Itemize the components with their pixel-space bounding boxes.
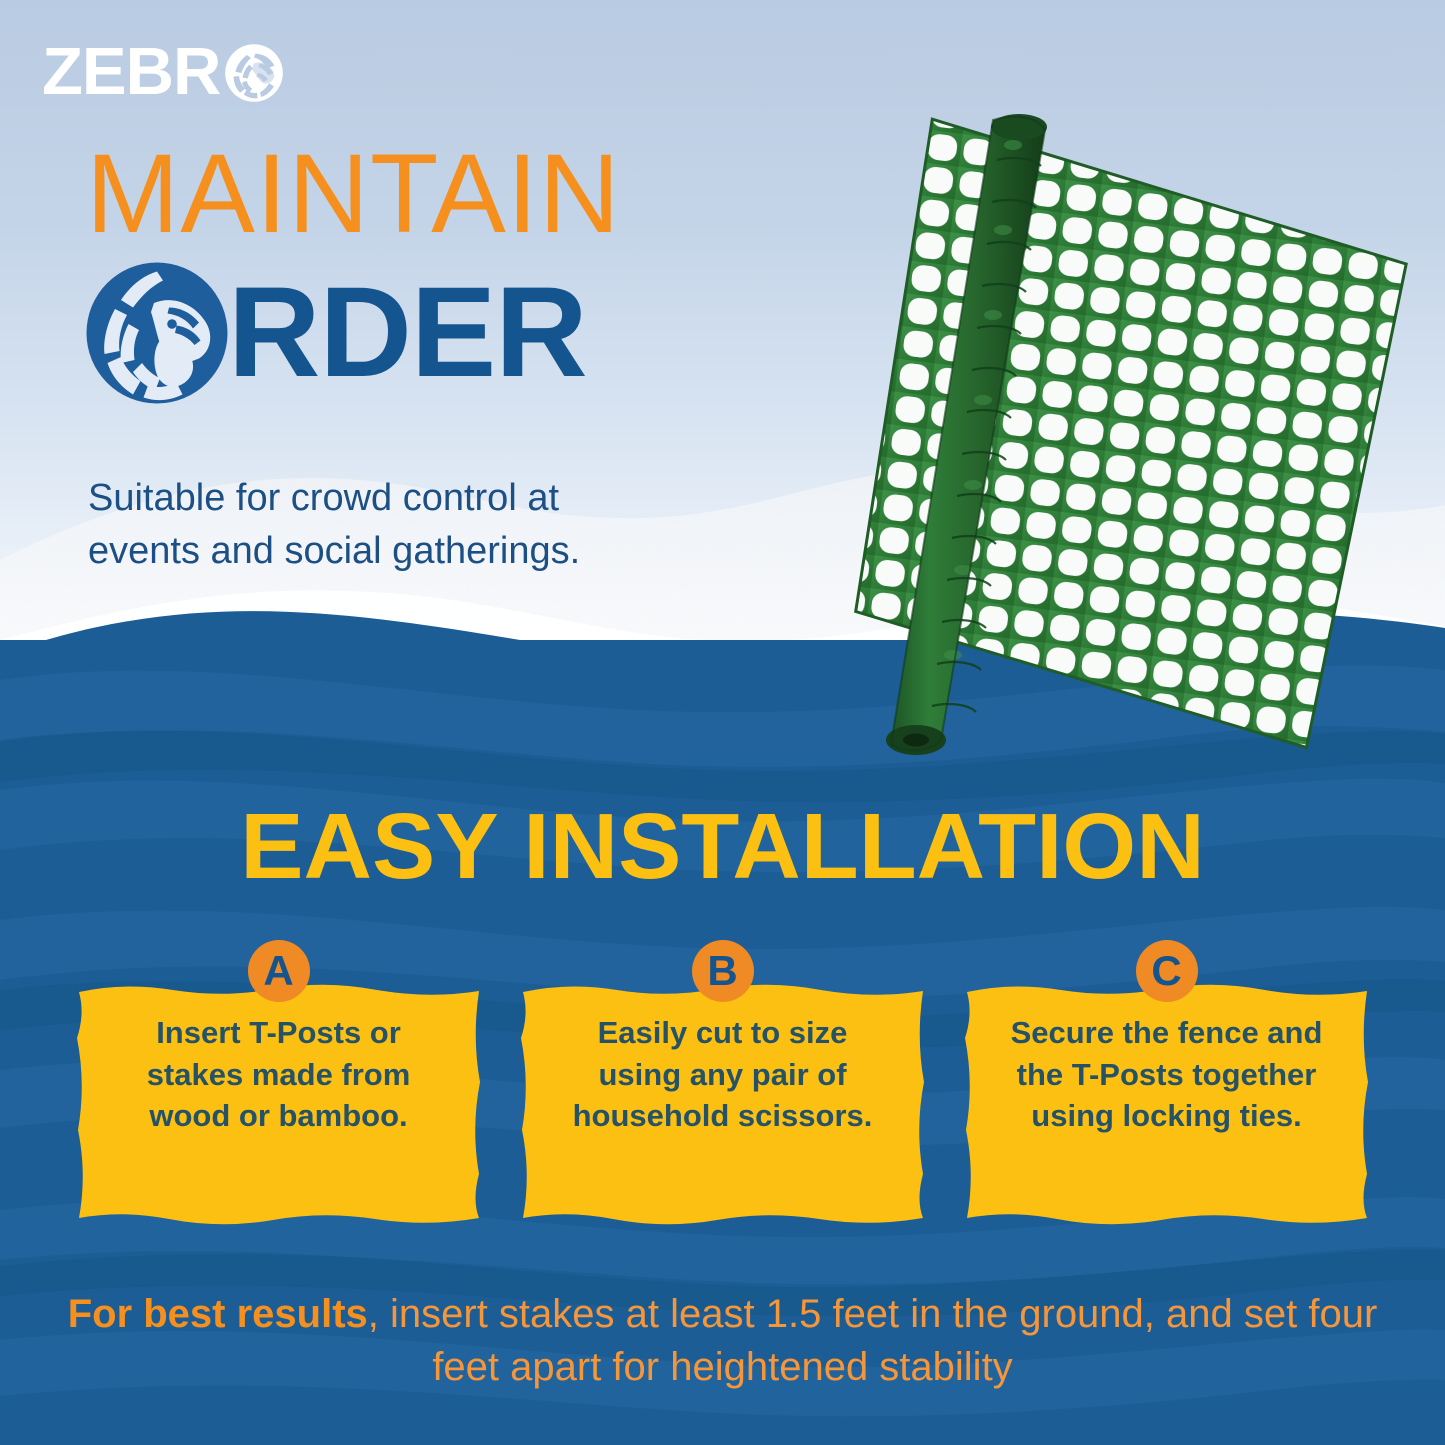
zebra-head-icon bbox=[224, 42, 284, 104]
hero-subtitle-line-1: Suitable for crowd control at bbox=[88, 472, 580, 525]
step-badge-a: A bbox=[248, 940, 310, 1002]
install-step-c: C Secure the fence and the T-Posts toget… bbox=[961, 940, 1373, 1228]
brand-logo: ZEBR bbox=[42, 38, 284, 105]
step-text-c: Secure the fence and the T-Posts togethe… bbox=[961, 978, 1373, 1167]
step-badge-b-label: B bbox=[707, 950, 737, 992]
step-badge-c: C bbox=[1136, 940, 1198, 1002]
step-card-a: Insert T-Posts or stakes made from wood … bbox=[73, 978, 485, 1228]
install-step-a: A Insert T-Posts or stakes made from woo… bbox=[73, 940, 485, 1228]
step-card-b: Easily cut to size using any pair of hou… bbox=[517, 978, 929, 1228]
product-mesh-fence-roll-image bbox=[745, 100, 1445, 780]
installation-steps: A Insert T-Posts or stakes made from woo… bbox=[0, 940, 1445, 1228]
step-text-a: Insert T-Posts or stakes made from wood … bbox=[73, 978, 485, 1167]
brand-logo-text: ZEBR bbox=[42, 38, 220, 105]
headline-line-2: RDER bbox=[228, 269, 587, 397]
step-badge-c-label: C bbox=[1151, 950, 1181, 992]
step-text-b: Easily cut to size using any pair of hou… bbox=[517, 978, 929, 1167]
footer-note: For best results, insert stakes at least… bbox=[0, 1288, 1445, 1394]
headline-line-1: MAINTAIN bbox=[86, 138, 621, 250]
footer-note-rest: , insert stakes at least 1.5 feet in the… bbox=[368, 1292, 1378, 1389]
headline-line-2-row: RDER bbox=[82, 258, 621, 408]
step-card-c: Secure the fence and the T-Posts togethe… bbox=[961, 978, 1373, 1228]
footer-note-bold: For best results bbox=[68, 1292, 368, 1336]
hero-subtitle-line-2: events and social gatherings. bbox=[88, 525, 580, 578]
product-infographic: ZEBR MAINTAIN bbox=[0, 0, 1445, 1445]
easy-installation-title: EASY INSTALLATION bbox=[0, 800, 1445, 893]
headline: MAINTAIN bbox=[86, 138, 621, 408]
step-badge-b: B bbox=[692, 940, 754, 1002]
hero-subtitle: Suitable for crowd control at events and… bbox=[88, 472, 580, 578]
step-badge-a-label: A bbox=[263, 950, 293, 992]
install-step-b: B Easily cut to size using any pair of h… bbox=[517, 940, 929, 1228]
zebra-head-o-icon bbox=[82, 258, 232, 408]
